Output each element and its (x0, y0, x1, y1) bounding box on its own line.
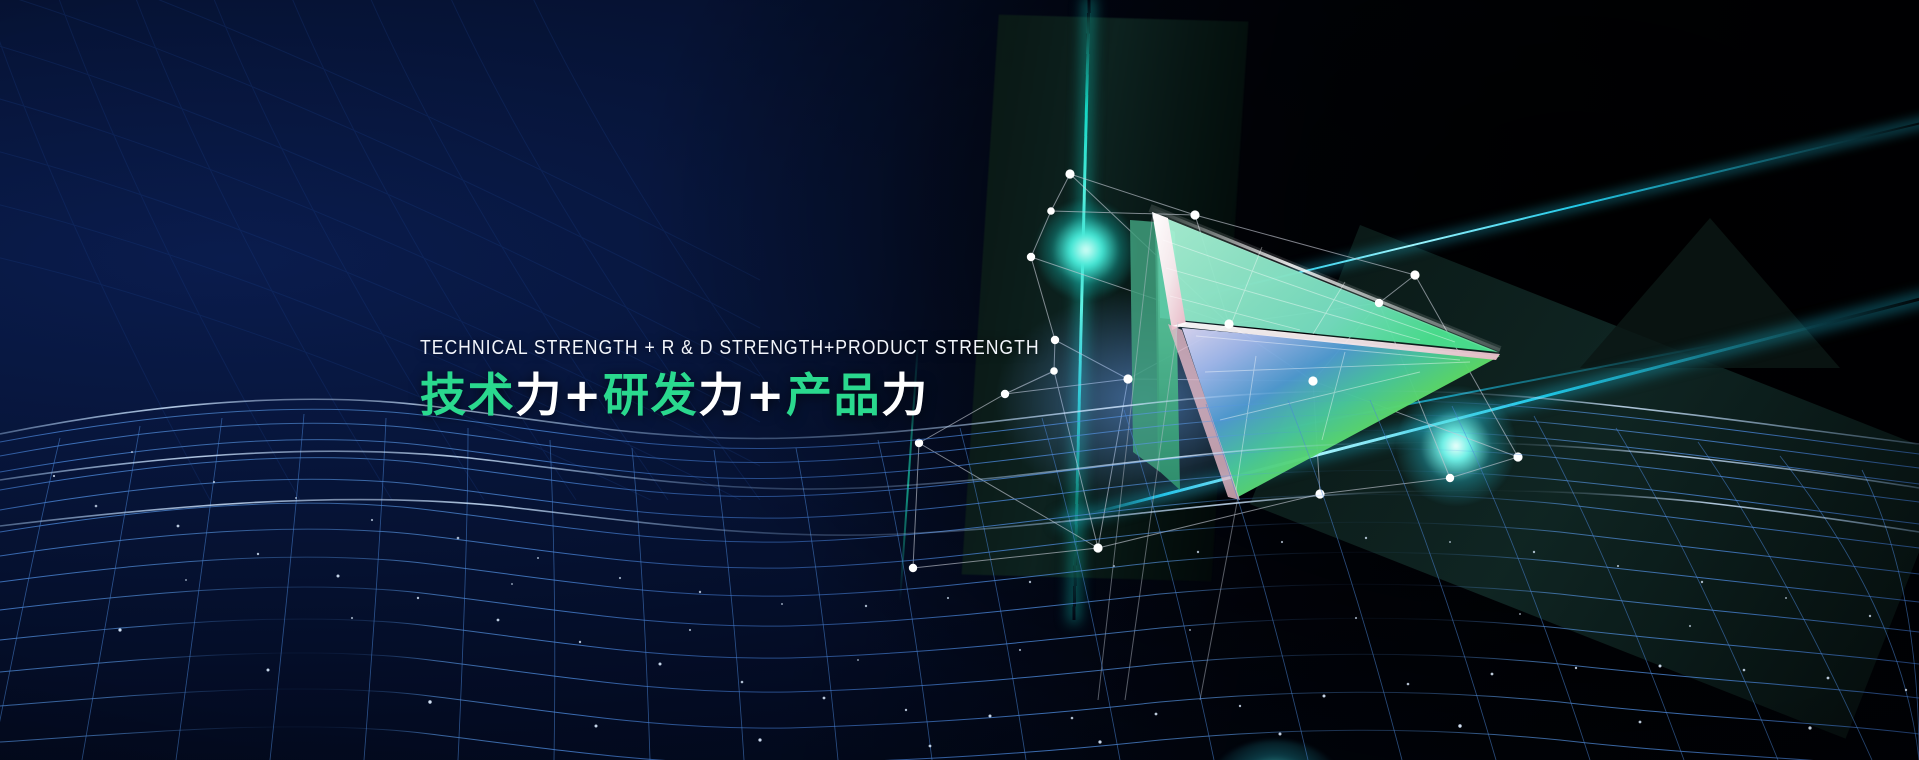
headline-segment-3: + (563, 368, 603, 422)
headline-segment-6: + (746, 368, 786, 422)
headline-segment-2: 力 (515, 368, 563, 422)
headline-segment-1: 技术 (420, 368, 515, 422)
headline-segment-8: 力 (881, 368, 929, 422)
headline-segment-4: 研发 (603, 368, 698, 422)
headline-segment-7: 产品 (786, 368, 881, 422)
page-title: 技术力+研发力+产品力 (420, 369, 1140, 422)
hero-banner: TECHNICAL STRENGTH + R & D STRENGTH+PROD… (0, 0, 1919, 760)
eyebrow-text: TECHNICAL STRENGTH + R & D STRENGTH+PROD… (420, 336, 1040, 360)
hero-text-block: TECHNICAL STRENGTH + R & D STRENGTH+PROD… (420, 336, 1140, 422)
headline-segment-5: 力 (698, 368, 746, 422)
